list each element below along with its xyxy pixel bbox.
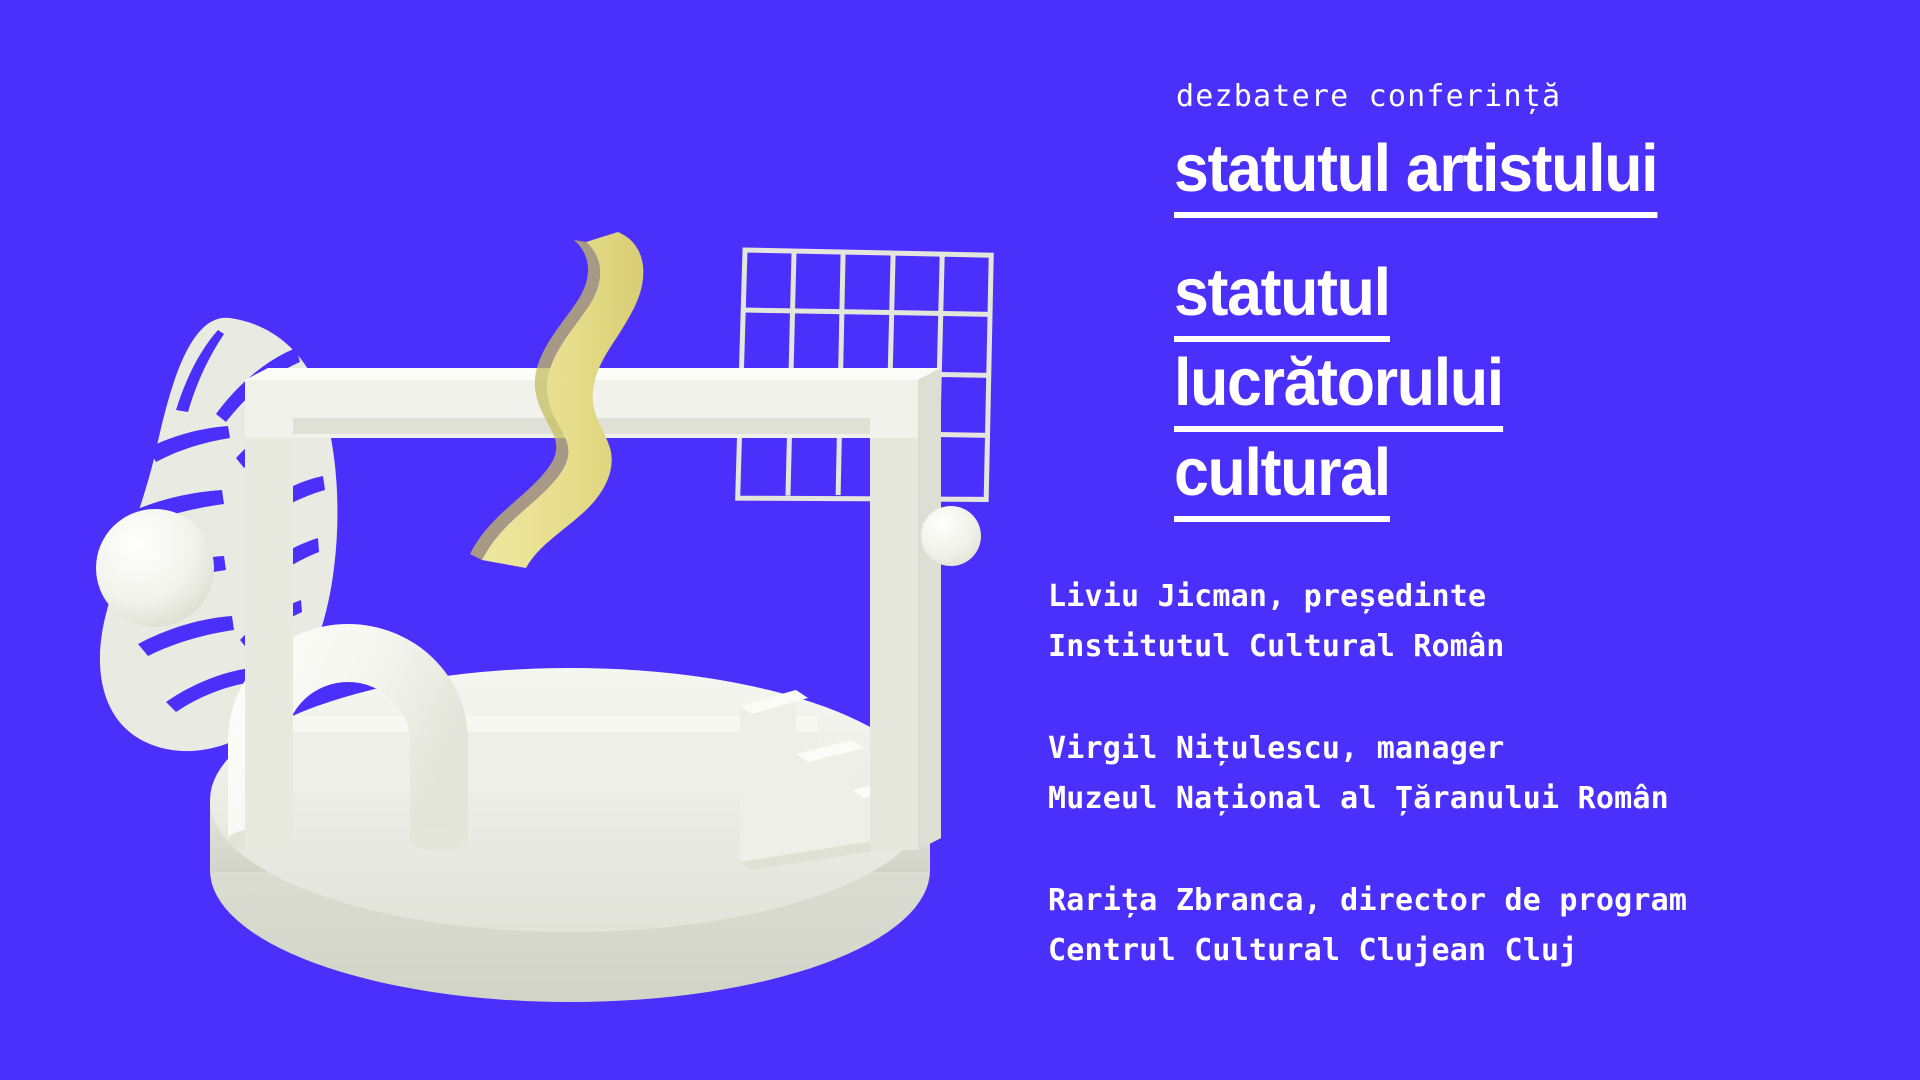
headline-secondary: statutul lucrătorului cultural [1174, 256, 1526, 526]
speaker-list: Liviu Jicman, președinte Institutul Cult… [1048, 572, 1687, 976]
back-slab [278, 716, 818, 792]
poster-canvas: dezbatere conferință statutul artistului… [0, 0, 1920, 1080]
kicker-label: dezbatere conferință [1176, 82, 1561, 112]
list-item: Virgil Nițulescu, manager Muzeul Naționa… [1048, 724, 1687, 824]
speaker-organisation: Centrul Cultural Clujean Cluj [1048, 926, 1687, 976]
headline-line: statutul artistului [1174, 132, 1657, 220]
headline-line: statutul [1174, 256, 1390, 344]
speaker-name: Virgil Nițulescu, manager [1048, 724, 1687, 774]
illustration-3d-render [0, 0, 1030, 1080]
large-sphere [96, 509, 214, 627]
list-item: Liviu Jicman, președinte Institutul Cult… [1048, 572, 1687, 672]
speaker-organisation: Institutul Cultural Român [1048, 622, 1687, 672]
headline-primary: statutul artistului [1174, 132, 1691, 222]
speaker-organisation: Muzeul Național al Țăranului Român [1048, 774, 1687, 824]
headline-line: lucrătorului [1174, 346, 1503, 434]
speaker-name: Liviu Jicman, președinte [1048, 572, 1687, 622]
speaker-name: Rarița Zbranca, director de program [1048, 876, 1687, 926]
headline-line: cultural [1174, 436, 1390, 524]
list-item: Rarița Zbranca, director de program Cent… [1048, 876, 1687, 976]
text-column: dezbatere conferință statutul artistului… [1174, 0, 1874, 1080]
small-sphere [921, 506, 981, 566]
